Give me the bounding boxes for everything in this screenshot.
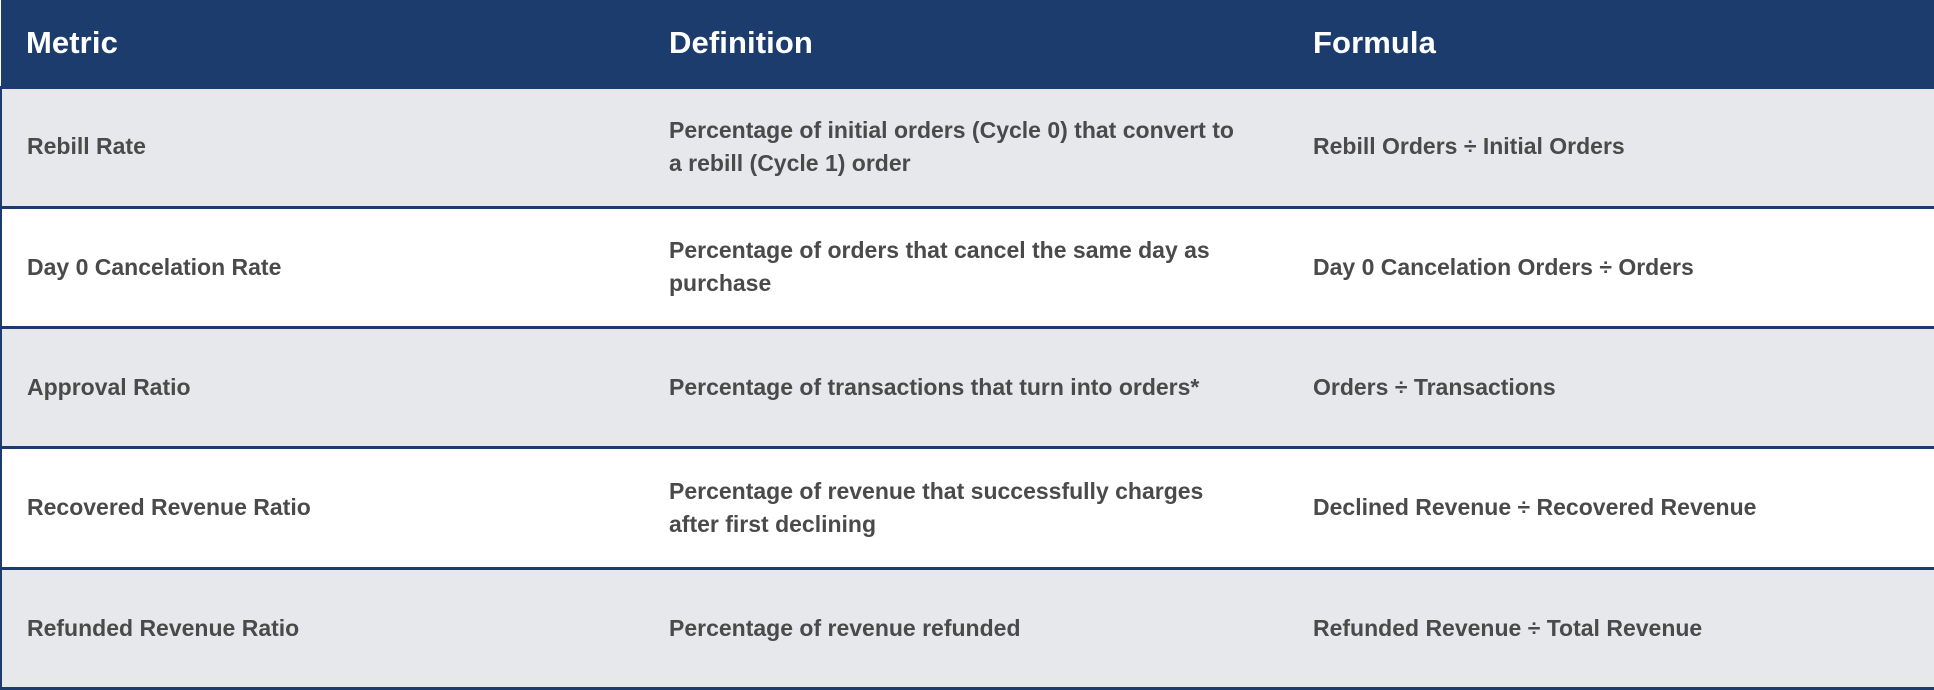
- metric-formula: Orders ÷ Transactions: [1293, 371, 1934, 404]
- column-header-definition-label: Definition: [651, 25, 1293, 61]
- table-row: Day 0 Cancelation Rate Percentage of ord…: [1, 207, 1934, 327]
- cell-metric: Rebill Rate: [1, 87, 651, 207]
- metric-definition: Percentage of transactions that turn int…: [651, 371, 1293, 404]
- cell-formula: Rebill Orders ÷ Initial Orders: [1293, 87, 1934, 207]
- metric-definition: Percentage of revenue refunded: [651, 612, 1293, 645]
- cell-formula: Refunded Revenue ÷ Total Revenue: [1293, 568, 1934, 688]
- cell-formula: Orders ÷ Transactions: [1293, 328, 1934, 448]
- metric-name: Recovered Revenue Ratio: [2, 491, 651, 524]
- cell-metric: Refunded Revenue Ratio: [1, 568, 651, 688]
- table-row: Recovered Revenue Ratio Percentage of re…: [1, 448, 1934, 568]
- metric-definition: Percentage of initial orders (Cycle 0) t…: [651, 114, 1293, 181]
- metric-definition: Percentage of revenue that successfully …: [651, 475, 1293, 542]
- metric-definition: Percentage of orders that cancel the sam…: [651, 234, 1293, 301]
- table-row: Rebill Rate Percentage of initial orders…: [1, 87, 1934, 207]
- cell-formula: Declined Revenue ÷ Recovered Revenue: [1293, 448, 1934, 568]
- metric-name: Day 0 Cancelation Rate: [2, 251, 651, 284]
- metric-formula: Declined Revenue ÷ Recovered Revenue: [1293, 491, 1934, 524]
- cell-metric: Day 0 Cancelation Rate: [1, 207, 651, 327]
- column-header-formula-label: Formula: [1293, 25, 1934, 61]
- cell-definition: Percentage of orders that cancel the sam…: [651, 207, 1293, 327]
- metric-formula: Rebill Orders ÷ Initial Orders: [1293, 130, 1934, 163]
- metric-name: Refunded Revenue Ratio: [2, 612, 651, 645]
- column-header-definition: Definition: [651, 0, 1293, 87]
- metric-formula: Day 0 Cancelation Orders ÷ Orders: [1293, 251, 1934, 284]
- metric-formula: Refunded Revenue ÷ Total Revenue: [1293, 612, 1934, 645]
- column-header-metric-label: Metric: [1, 25, 651, 61]
- cell-metric: Recovered Revenue Ratio: [1, 448, 651, 568]
- cell-definition: Percentage of revenue refunded: [651, 568, 1293, 688]
- metric-name: Approval Ratio: [2, 371, 651, 404]
- cell-definition: Percentage of revenue that successfully …: [651, 448, 1293, 568]
- table-header: Metric Definition Formula: [1, 0, 1934, 87]
- header-row: Metric Definition Formula: [1, 0, 1934, 87]
- cell-definition: Percentage of initial orders (Cycle 0) t…: [651, 87, 1293, 207]
- table-row: Approval Ratio Percentage of transaction…: [1, 328, 1934, 448]
- column-header-metric: Metric: [1, 0, 651, 87]
- column-header-formula: Formula: [1293, 0, 1934, 87]
- table-row: Refunded Revenue Ratio Percentage of rev…: [1, 568, 1934, 688]
- cell-formula: Day 0 Cancelation Orders ÷ Orders: [1293, 207, 1934, 327]
- metric-name: Rebill Rate: [2, 130, 651, 163]
- cell-definition: Percentage of transactions that turn int…: [651, 328, 1293, 448]
- metrics-definition-table: Metric Definition Formula Rebill Rate Pe…: [0, 0, 1934, 690]
- table-body: Rebill Rate Percentage of initial orders…: [1, 87, 1934, 689]
- cell-metric: Approval Ratio: [1, 328, 651, 448]
